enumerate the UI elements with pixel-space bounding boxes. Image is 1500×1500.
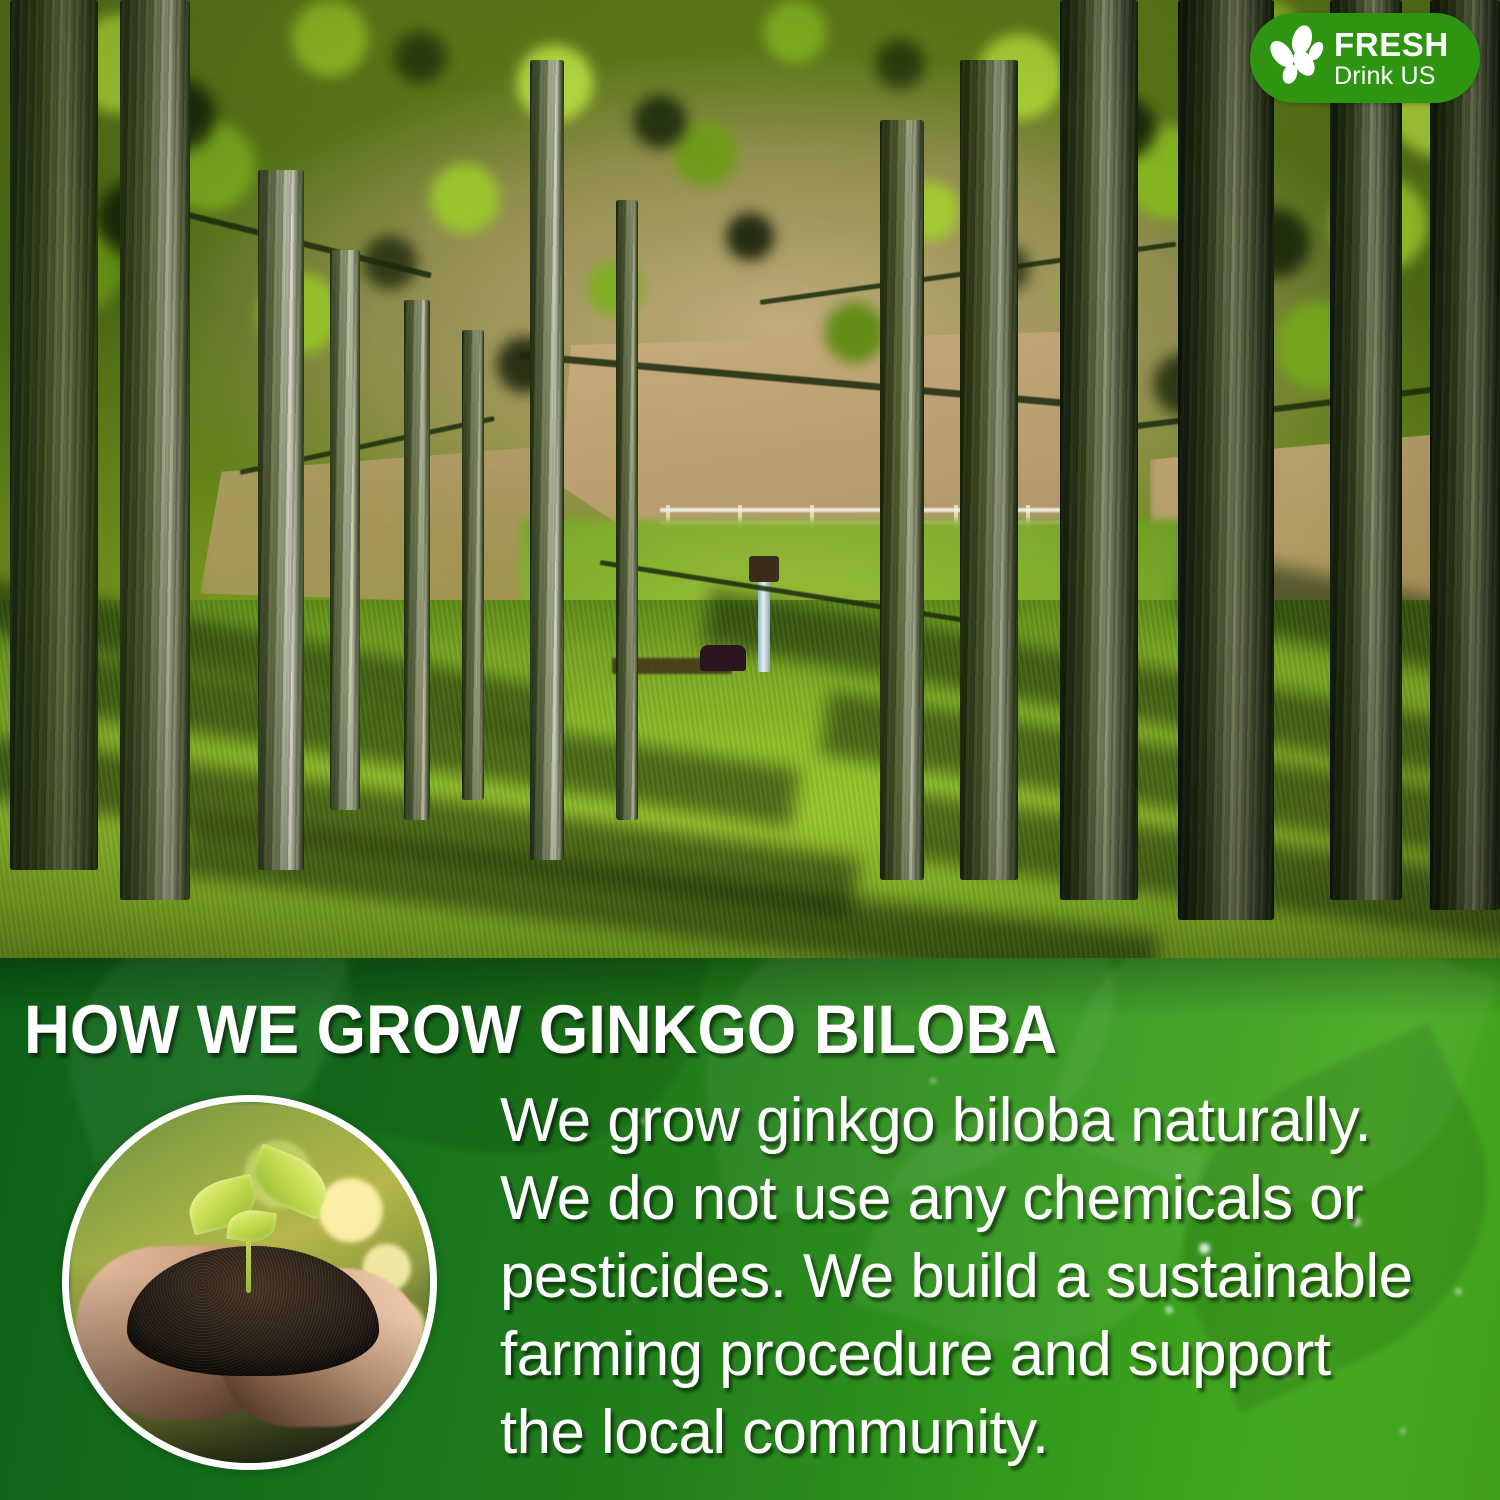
circle-shadow-overlay [69, 1102, 430, 1463]
body-copy: We grow ginkgo biloba naturally. We do n… [500, 1082, 1470, 1472]
tree-trunk [258, 170, 304, 870]
body-line: pesticides. We build a sustainable [500, 1238, 1470, 1316]
logo-secondary-text: Drink US [1334, 64, 1449, 89]
tree-trunk [1330, 0, 1402, 900]
body-line: the local community. [500, 1394, 1470, 1472]
body-line: We grow ginkgo biloba naturally. [500, 1082, 1470, 1160]
tree-trunk [1178, 0, 1274, 920]
forest-photo: FRESH Drink US [0, 0, 1500, 958]
logo-primary-text: FRESH [1334, 28, 1449, 61]
tree-trunk [530, 60, 564, 860]
tree-trunk [404, 300, 430, 820]
tree-trunk [462, 330, 484, 800]
ginkgo-biloba-infographic: FRESH Drink US HOW WE GROW GINKGO BILOBA [0, 0, 1500, 1500]
body-line: farming procedure and support [500, 1316, 1470, 1394]
tree-trunk [10, 0, 98, 870]
body-line: We do not use any chemicals or [500, 1160, 1470, 1238]
tree-trunk [880, 120, 924, 880]
tree-trunk [1060, 0, 1138, 900]
tree-trunk [616, 200, 638, 820]
tree-trunk [330, 250, 360, 810]
brand-logo[interactable]: FRESH Drink US [1250, 13, 1480, 103]
grass-ground [0, 600, 1500, 958]
tree-trunk [1430, 0, 1500, 910]
seated-person [700, 645, 746, 671]
sprout-leaves-icon [1254, 16, 1338, 100]
tree-trunk [120, 0, 190, 900]
hands-holding-seedling-photo [62, 1095, 437, 1470]
page-title: HOW WE GROW GINKGO BILOBA [24, 995, 1367, 1064]
tree-trunk [960, 60, 1018, 880]
